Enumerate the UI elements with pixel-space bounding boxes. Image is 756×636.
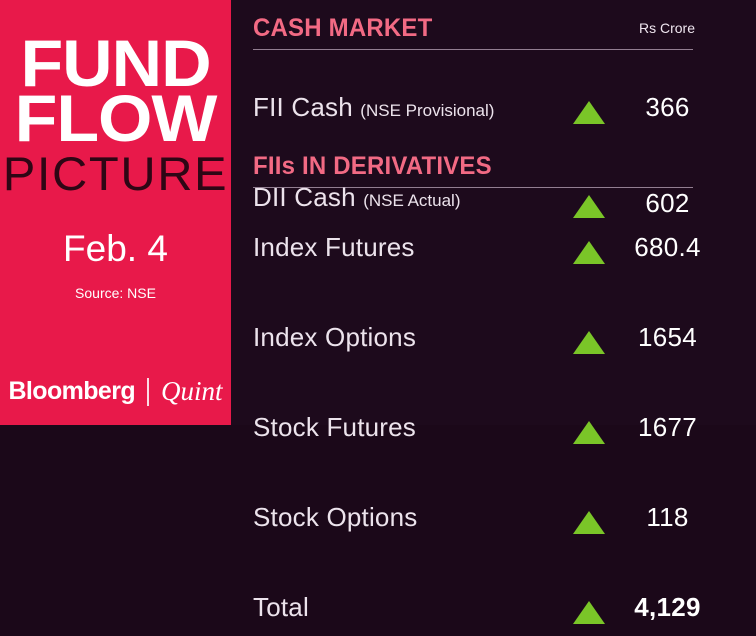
triangle-up-icon bbox=[573, 101, 605, 124]
direction-cell bbox=[571, 421, 607, 449]
row-label-fii-cash: FII Cash (NSE Provisional) bbox=[253, 92, 494, 123]
table-row: Stock Futures 1677 bbox=[253, 412, 740, 456]
section-title-cash-market: CASH MARKET bbox=[253, 14, 432, 43]
section-cash-market: CASH MARKET Rs Crore FII Cash (NSE Provi… bbox=[253, 14, 740, 140]
section-fiis-in-derivatives: FIIs IN DERIVATIVES Index Futures 680.4 … bbox=[253, 152, 740, 410]
row-value-stock-options: 118 bbox=[615, 502, 720, 533]
direction-cell bbox=[571, 241, 607, 269]
table-row: FII Cash (NSE Provisional) 366 bbox=[253, 92, 740, 136]
row-value-total: 4,129 bbox=[615, 592, 720, 623]
row-label-stock-options: Stock Options bbox=[253, 502, 417, 533]
row-value-index-futures: 680.4 bbox=[615, 232, 720, 263]
logo-bloomberg-text: Bloomberg bbox=[8, 377, 135, 406]
brand-title-line-3: PICTURE bbox=[0, 150, 231, 197]
logo-quint-text: Quint bbox=[161, 376, 223, 407]
row-label-total: Total bbox=[253, 592, 309, 623]
direction-cell bbox=[571, 331, 607, 359]
triangle-up-icon bbox=[573, 331, 605, 354]
brand-title-block: FUND FLOW PICTURE bbox=[0, 36, 231, 197]
table-row: Stock Options 118 bbox=[253, 502, 740, 546]
section-header-cash-market: CASH MARKET Rs Crore bbox=[253, 14, 740, 52]
fund-flow-infographic: FUND FLOW PICTURE Feb. 4 Source: NSE Blo… bbox=[0, 0, 756, 425]
row-label-index-futures: Index Futures bbox=[253, 232, 415, 263]
triangle-up-icon bbox=[573, 421, 605, 444]
brand-title-line-2: FLOW bbox=[0, 91, 231, 146]
unit-label: Rs Crore bbox=[639, 20, 695, 36]
table-row: Index Options 1654 bbox=[253, 322, 740, 366]
row-value-stock-futures: 1677 bbox=[615, 412, 720, 443]
row-label-stock-futures: Stock Futures bbox=[253, 412, 416, 443]
source-label: Source: NSE bbox=[0, 285, 231, 301]
row-value-index-options: 1654 bbox=[615, 322, 720, 353]
table-row: Index Futures 680.4 bbox=[253, 232, 740, 276]
direction-cell bbox=[571, 511, 607, 539]
row-label-main: FII Cash bbox=[253, 92, 353, 122]
direction-cell bbox=[571, 601, 607, 629]
logo-divider bbox=[147, 378, 149, 406]
data-panel: CASH MARKET Rs Crore FII Cash (NSE Provi… bbox=[231, 0, 756, 425]
row-label-index-options: Index Options bbox=[253, 322, 416, 353]
direction-cell bbox=[571, 101, 607, 129]
triangle-up-icon bbox=[573, 601, 605, 624]
section-rule-derivatives bbox=[253, 187, 693, 188]
left-brand-panel: FUND FLOW PICTURE Feb. 4 Source: NSE Blo… bbox=[0, 0, 231, 425]
section-header-derivatives: FIIs IN DERIVATIVES bbox=[253, 152, 740, 190]
table-row-total: Total 4,129 bbox=[253, 592, 740, 636]
row-value-fii-cash: 366 bbox=[615, 92, 720, 123]
section-title-derivatives: FIIs IN DERIVATIVES bbox=[253, 152, 492, 181]
row-label-sub: (NSE Provisional) bbox=[360, 101, 494, 120]
date-label: Feb. 4 bbox=[0, 228, 231, 270]
section-rule-cash-market bbox=[253, 49, 693, 50]
triangle-up-icon bbox=[573, 511, 605, 534]
bloombergquint-logo: Bloomberg Quint bbox=[0, 376, 231, 407]
triangle-up-icon bbox=[573, 241, 605, 264]
